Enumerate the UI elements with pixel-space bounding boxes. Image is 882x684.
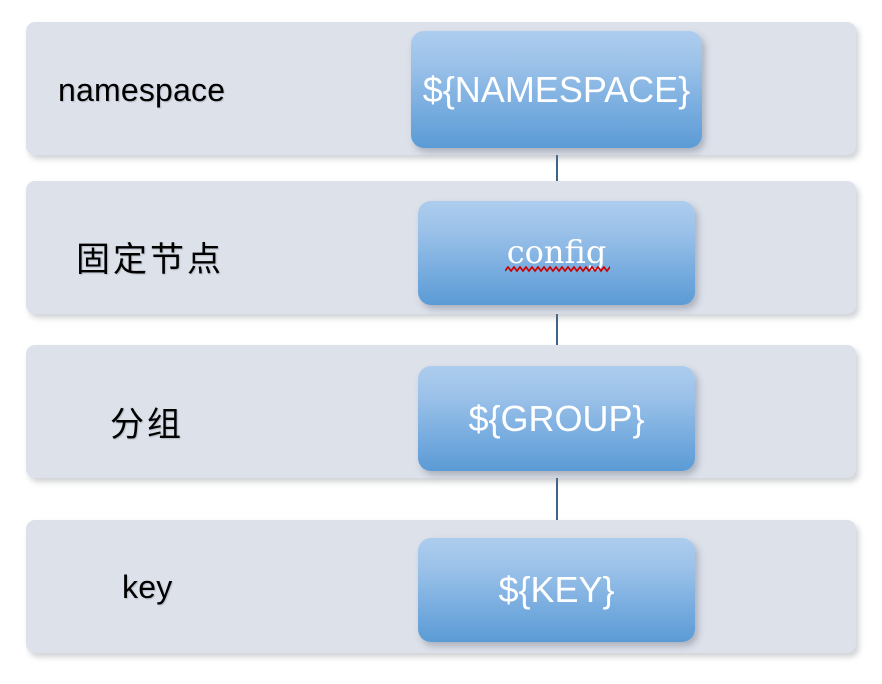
- row-label-key: key: [122, 569, 172, 606]
- node-config-text-wrapper: config: [507, 236, 607, 271]
- node-key-text: ${KEY}: [498, 572, 614, 608]
- diagram-canvas: namespace ${NAMESPACE} 固定节点 config 分组 ${…: [0, 0, 882, 684]
- node-config[interactable]: config: [418, 201, 695, 305]
- row-label-group: 分组: [110, 397, 184, 446]
- node-group[interactable]: ${GROUP}: [418, 366, 695, 471]
- node-group-text: ${GROUP}: [468, 401, 644, 437]
- node-namespace-text: ${NAMESPACE}: [423, 72, 690, 108]
- row-label-fixed-node: 固定节点: [76, 232, 224, 281]
- row-label-namespace: namespace: [58, 72, 225, 109]
- node-key[interactable]: ${KEY}: [418, 538, 695, 642]
- node-namespace[interactable]: ${NAMESPACE}: [411, 31, 702, 148]
- spellcheck-underline-icon: [505, 266, 611, 273]
